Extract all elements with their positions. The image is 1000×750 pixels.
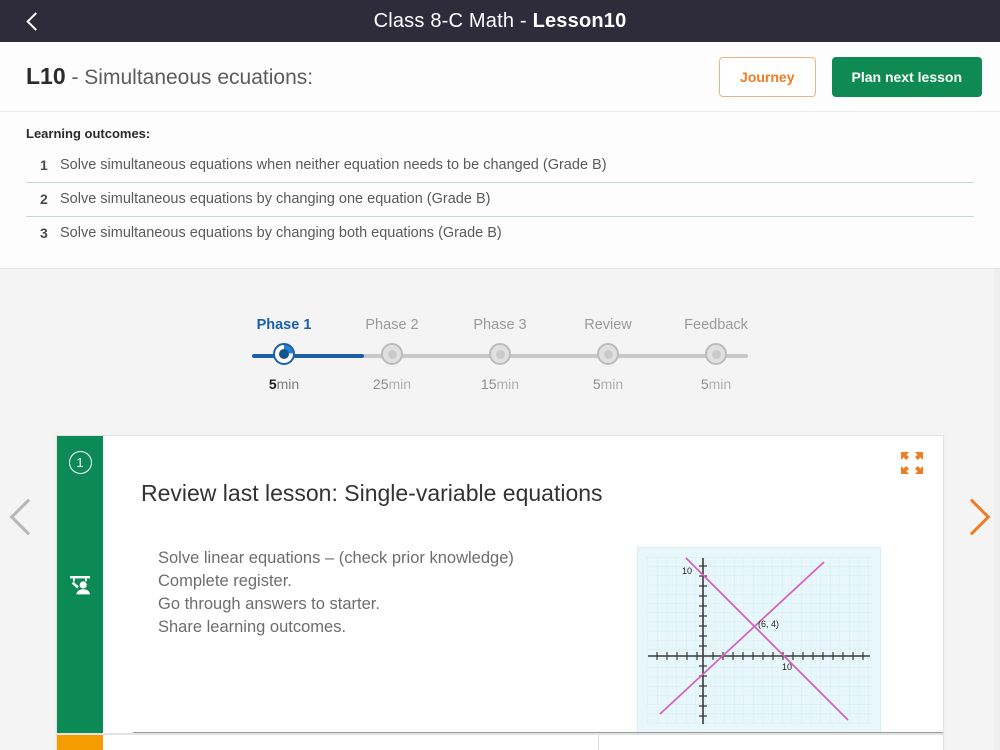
timeline-steps: Phase 15minPhase 225minPhase 315minRevie… [230,317,770,392]
timeline-step-node[interactable] [597,343,619,365]
chevron-right-icon [954,499,991,536]
learning-outcome-number: 3 [40,225,60,241]
card-body-2: Poll results [103,735,943,750]
timeline-step-phase-2[interactable]: Phase 225min [338,317,446,392]
simultaneous-equations-graph[interactable]: (6, 4) 10 10 [637,547,881,733]
chevron-left-icon [10,499,47,536]
next-phase-button[interactable] [950,482,994,552]
chevron-left-icon [26,12,44,30]
timeline-step-duration-value: 25 [373,376,389,392]
lesson-name: - Simultaneous ecuations: [66,66,313,89]
card-title: Review last lesson: Single-variable equa… [141,480,913,507]
timeline-step-phase-3[interactable]: Phase 315min [446,317,554,392]
timeline-step-duration-value: 15 [481,376,497,392]
card-body-text: Solve linear equations – (check prior kn… [133,547,637,733]
learning-outcomes-section: Learning outcomes: 1Solve simultaneous e… [0,112,1000,268]
timeline-step-duration-unit: min [497,376,520,392]
timeline-step-duration-value: 5 [269,376,277,392]
timeline-step-duration-unit: min [389,376,412,392]
phase-cards: 1 [56,435,944,750]
card-rail-orange [57,735,103,750]
card-body: Review last lesson: Single-variable equa… [103,436,943,733]
plan-next-lesson-button[interactable]: Plan next lesson [832,57,982,97]
timeline-step-duration: 15min [446,376,554,392]
previous-phase-button[interactable] [6,482,50,552]
card2-left-pane [103,735,598,750]
timeline-step-node[interactable] [273,343,295,365]
timeline-step-duration-unit: min [601,376,624,392]
timeline-step-feedback[interactable]: Feedback5min [662,317,770,392]
timeline-step-duration-value: 5 [701,376,709,392]
timeline-step-duration: 5min [554,376,662,392]
timeline-step-name: Feedback [662,317,770,333]
page-title: Class 8-C Math - Lesson10 [374,10,627,33]
teacher-presenting-icon [67,572,93,603]
learning-outcomes-list: 1Solve simultaneous equations when neith… [26,149,974,250]
lesson-header: L10 - Simultaneous ecuations: Journey Pl… [0,42,1000,112]
timeline-step-node[interactable] [381,343,403,365]
timeline-step-name: Phase 3 [446,317,554,333]
graph-x-label: 10 [782,662,792,672]
timeline-step-phase-1[interactable]: Phase 15min [230,317,338,392]
phase-timeline: Phase 15minPhase 225minPhase 315minRevie… [230,269,770,392]
graph-y-label: 10 [682,566,692,576]
learning-outcome-number: 2 [40,191,60,207]
timeline-step-duration: 5min [230,376,338,392]
card-content: Solve linear equations – (check prior kn… [133,547,913,733]
timeline-step-node[interactable] [705,343,727,365]
topbar-title-prefix: Class 8-C Math - [374,10,533,32]
graph-intersection-label: (6, 4) [758,619,779,629]
timeline-step-duration-unit: min [277,376,300,392]
top-bar: Class 8-C Math - Lesson10 [0,0,1000,42]
timeline-step-node[interactable] [489,343,511,365]
timeline-step-name: Review [554,317,662,333]
learning-outcomes-label: Learning outcomes: [26,126,974,141]
learning-outcome-text: Solve simultaneous equations by changing… [60,225,502,241]
lesson-code: L10 [26,63,66,89]
journey-button[interactable]: Journey [719,57,815,97]
vertical-scrollbar[interactable] [994,269,1000,750]
learning-outcome-number: 1 [40,157,60,173]
topbar-title-lesson: Lesson10 [533,10,627,32]
timeline-step-duration: 5min [662,376,770,392]
expand-fullscreen-icon[interactable] [899,450,925,481]
learning-outcome-text: Solve simultaneous equations by changing… [60,191,490,207]
learning-outcome-row[interactable]: 3Solve simultaneous equations by changin… [26,217,974,250]
timeline-step-duration: 25min [338,376,446,392]
timeline-step-duration-unit: min [709,376,732,392]
timeline-step-name: Phase 2 [338,317,446,333]
learning-outcome-row[interactable]: 2Solve simultaneous equations by changin… [26,183,974,217]
card-step-badge: 1 [69,451,92,474]
timeline-step-review[interactable]: Review5min [554,317,662,392]
lesson-activity-card-1[interactable]: 1 [56,435,944,734]
timeline-step-duration-value: 5 [593,376,601,392]
timeline-step-name: Phase 1 [230,317,338,333]
lesson-title: L10 - Simultaneous ecuations: [26,63,719,90]
back-button[interactable] [16,0,50,42]
lesson-activity-card-2[interactable]: Poll results [56,734,944,750]
lesson-plan-main: Phase 15minPhase 225minPhase 315minRevie… [0,268,1000,750]
card-divider [133,732,943,733]
card-rail-green: 1 [57,436,103,733]
poll-results-label: Poll results [598,735,943,750]
learning-outcome-row[interactable]: 1Solve simultaneous equations when neith… [26,149,974,183]
learning-outcome-text: Solve simultaneous equations when neithe… [60,157,607,173]
